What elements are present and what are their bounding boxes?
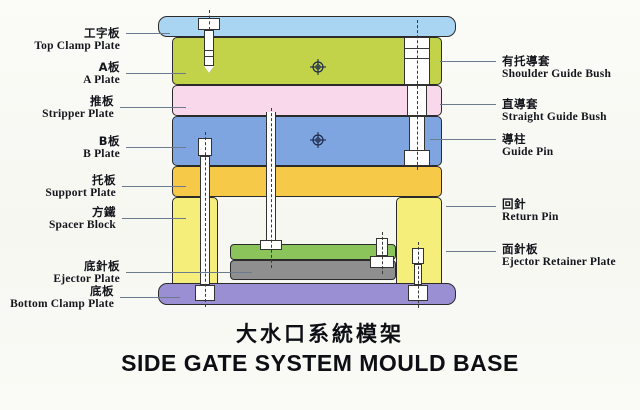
label-bottom-clamp-plate-cn: 底板 <box>10 285 114 298</box>
cap-screw-shank <box>204 30 214 66</box>
label-return-pin: 回針Return Pin <box>502 198 559 224</box>
leader-line-ejector-plate <box>126 272 252 273</box>
label-support-plate-cn: 托板 <box>45 174 116 187</box>
title-chinese: 大水口系統模架 <box>0 318 640 348</box>
title-english: SIDE GATE SYSTEM MOULD BASE <box>0 350 640 377</box>
leader-line-straight-guide-bush <box>440 104 496 105</box>
label-guide-pin-cn: 導柱 <box>502 133 553 146</box>
label-shoulder-guide-bush-cn: 有托導套 <box>502 55 611 68</box>
center-target-marker-a <box>310 59 326 75</box>
label-top-clamp-plate-en: Top Clamp Plate <box>34 40 120 53</box>
leader-line-top-clamp-plate <box>126 33 170 34</box>
label-shoulder-guide-bush: 有托導套Shoulder Guide Bush <box>502 55 611 81</box>
mould-base-diagram: 工字板Top Clamp PlateA板A Plate推板Stripper Pl… <box>0 0 640 410</box>
leader-line-shoulder-guide-bush <box>440 61 496 62</box>
label-top-clamp-plate: 工字板Top Clamp Plate <box>34 27 120 53</box>
leader-line-support-plate <box>122 186 186 187</box>
return-pin-left-centerline <box>205 132 206 307</box>
label-straight-guide-bush: 直導套Straight Guide Bush <box>502 98 607 124</box>
cap-screw-thread-1 <box>204 50 214 51</box>
label-guide-pin: 導柱Guide Pin <box>502 133 553 159</box>
leader-line-guide-pin <box>430 139 496 140</box>
cap-screw-tip <box>204 66 214 73</box>
label-a-plate-en: A Plate <box>83 74 120 87</box>
label-return-pin-en: Return Pin <box>502 211 559 224</box>
leader-line-bottom-clamp-plate <box>120 297 180 298</box>
label-b-plate-cn: B板 <box>83 135 120 148</box>
label-spacer-block-cn: 方鐵 <box>49 206 116 219</box>
label-b-plate-en: B Plate <box>83 148 120 161</box>
center-target-marker-b <box>310 132 326 148</box>
label-ejector-retainer-plate-en: Ejector Retainer Plate <box>502 256 616 269</box>
return-pin-right-centerline <box>382 232 383 274</box>
leader-line-stripper-plate <box>120 107 186 108</box>
retainer-screw-centerline <box>418 242 419 308</box>
label-top-clamp-plate-cn: 工字板 <box>34 27 120 40</box>
plate-stripper <box>172 85 442 116</box>
label-bottom-clamp-plate: 底板Bottom Clamp Plate <box>10 285 114 311</box>
label-stripper-plate-en: Stripper Plate <box>42 108 114 121</box>
label-ejector-plate: 底針板Ejector Plate <box>53 260 120 286</box>
leader-line-ejector-retainer-plate <box>446 251 496 252</box>
ejector-pin-center-centerline <box>271 108 272 268</box>
label-straight-guide-bush-cn: 直導套 <box>502 98 607 111</box>
plate-support <box>172 166 442 197</box>
label-spacer-block-en: Spacer Block <box>49 219 116 232</box>
leader-line-spacer-block <box>122 218 186 219</box>
leader-line-return-pin <box>446 206 496 207</box>
label-stripper-plate-cn: 推板 <box>42 95 114 108</box>
label-guide-pin-en: Guide Pin <box>502 146 553 159</box>
spacer-block-left <box>172 197 218 289</box>
label-straight-guide-bush-en: Straight Guide Bush <box>502 111 607 124</box>
diagram-title: 大水口系統模架 SIDE GATE SYSTEM MOULD BASE <box>0 318 640 377</box>
label-ejector-retainer-plate: 面針板Ejector Retainer Plate <box>502 243 616 269</box>
label-a-plate: A板A Plate <box>83 61 120 87</box>
cap-screw-thread-2 <box>204 56 214 57</box>
guide-pin-centerline <box>417 20 418 170</box>
label-ejector-retainer-plate-cn: 面針板 <box>502 243 616 256</box>
leader-line-a-plate <box>126 73 186 74</box>
label-ejector-plate-cn: 底針板 <box>53 260 120 273</box>
label-bottom-clamp-plate-en: Bottom Clamp Plate <box>10 298 114 311</box>
leader-line-b-plate <box>126 147 186 148</box>
label-shoulder-guide-bush-en: Shoulder Guide Bush <box>502 68 611 81</box>
label-b-plate: B板B Plate <box>83 135 120 161</box>
label-return-pin-cn: 回針 <box>502 198 559 211</box>
label-support-plate-en: Support Plate <box>45 187 116 200</box>
cap-screw-centerline <box>209 10 210 30</box>
plate-b <box>172 116 442 166</box>
label-stripper-plate: 推板Stripper Plate <box>42 95 114 121</box>
label-spacer-block: 方鐵Spacer Block <box>49 206 116 232</box>
label-support-plate: 托板Support Plate <box>45 174 116 200</box>
label-a-plate-cn: A板 <box>83 61 120 74</box>
